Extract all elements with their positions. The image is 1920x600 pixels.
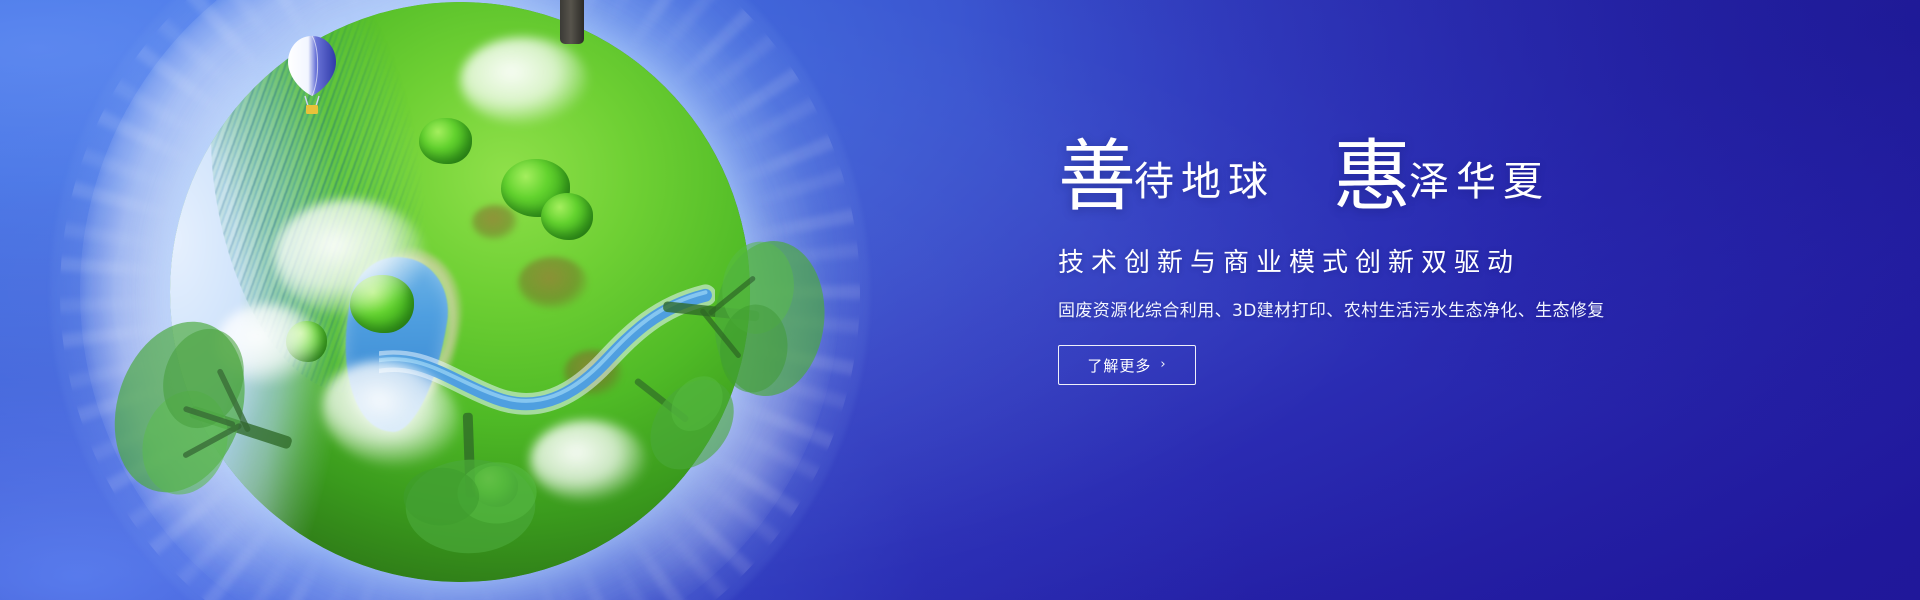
cloud [530,420,646,501]
headline-kanji-primary: 善 [1058,138,1136,216]
hero-banner: 善 待地球 惠 泽华夏 技术创新与商业模式创新双驱动 固废资源化综合利用、3D建… [0,0,1920,600]
hero-subtitle: 技术创新与商业模式创新双驱动 [1058,242,1758,279]
globe-illustration [50,0,870,600]
cloud [274,199,425,315]
headline-kanji-secondary: 泽华夏 [1409,162,1550,202]
planet-tree-cluster [419,118,471,164]
planet-tree-cluster [472,466,518,507]
cloud [216,304,320,385]
learn-more-label: 了解更多 [1087,355,1151,376]
page-title: 善 待地球 惠 泽华夏 [1058,132,1758,224]
headline-group-1: 善 待地球 [1058,132,1275,210]
headline-group-2: 惠 泽华夏 [1333,132,1550,210]
cloud [460,37,588,124]
hero-description: 固废资源化综合利用、3D建材打印、农村生活污水生态净化、生态修复 [1058,296,1758,321]
planet-tree-cluster [541,193,593,239]
green-planet [170,2,750,582]
learn-more-button[interactable]: 了解更多 › [1058,345,1196,385]
headline-kanji-primary: 惠 [1333,138,1411,216]
chevron-right-icon: › [1160,358,1166,371]
headline-kanji-secondary: 待地球 [1134,162,1275,202]
hot-air-balloon-icon [286,34,338,120]
hero-copy: 善 待地球 惠 泽华夏 技术创新与商业模式创新双驱动 固废资源化综合利用、3D建… [1058,132,1758,385]
